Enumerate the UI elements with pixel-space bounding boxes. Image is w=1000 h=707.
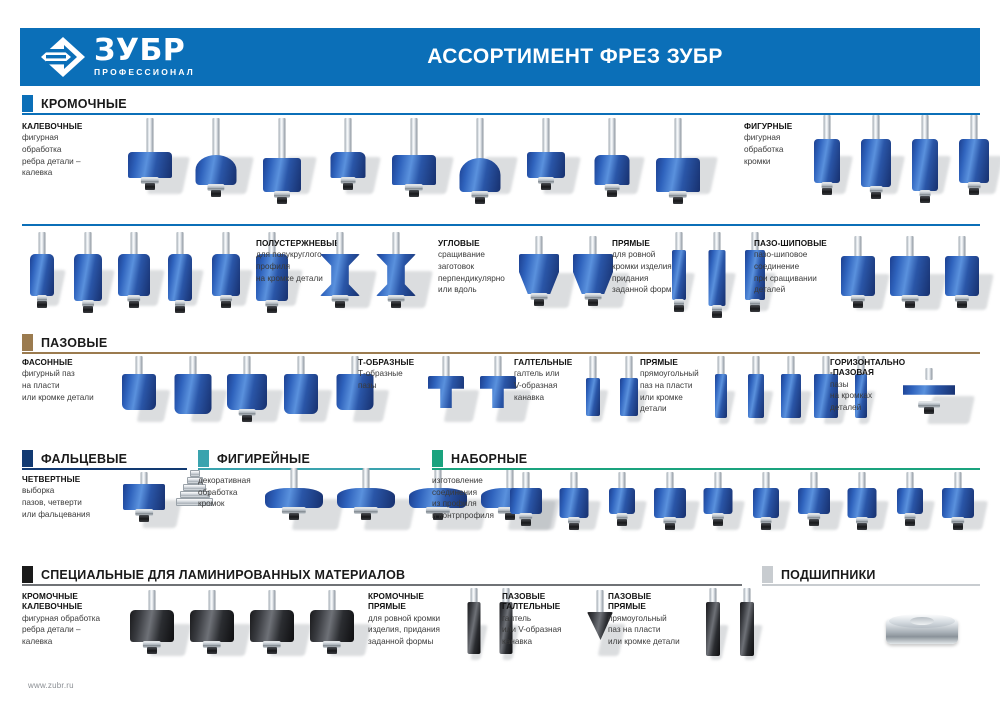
bit-shank [177,232,184,256]
bit-nut [712,311,722,318]
bit-shank [223,232,230,256]
group-label-galtelnye: ГАЛТЕЛЬНЫЕ галтель илиV-образнаяканавка [514,358,582,403]
router-bit [700,588,726,666]
bit-nut [211,190,221,197]
router-bit [602,472,642,536]
bit-shank [626,356,633,380]
bit-shank [337,232,344,256]
bit-cutter-body [595,155,630,185]
router-bit [938,472,978,536]
router-bit [170,356,216,428]
router-bit [743,356,769,430]
bit-shank [244,356,251,376]
bit-shank [823,356,830,376]
section-accent-chip [22,95,33,112]
bit-shank [279,118,286,160]
router-bit [306,590,358,662]
router-bit [836,236,880,316]
group-label-pazo-shipovye: ПАЗО-ШИПОВЫЕ пазо-шиповоесоединениепри с… [754,239,830,296]
router-bit [708,356,734,430]
bit-shank [363,468,370,490]
section-header-pazovye: ПАЗОВЫЕ [22,334,107,351]
bit-cutter-body [748,374,764,418]
bit-shank [675,118,682,160]
bit-shank [590,356,597,380]
bit-cutter-body [196,155,237,185]
footer-url: www.zubr.ru [28,681,74,690]
router-bit [570,236,616,314]
section-header-nabornye: НАБОРНЫЕ [432,450,527,467]
router-bit [516,118,576,200]
section-accent-chip [432,450,443,467]
bit-cutter-body [912,139,938,191]
router-bit [582,118,642,200]
router-bit [855,115,897,200]
router-bit [904,115,946,200]
bit-cutter-body [337,488,395,508]
bit-shank [136,356,143,376]
bit-nut [920,196,930,203]
bit-cutter-body [263,158,301,192]
bit-cutter-body [130,610,174,642]
bit-shank [907,236,914,258]
bit-cutter-body [704,488,733,514]
bit-cutter-body [798,488,830,514]
bit-shank [971,115,978,141]
bit-cutter-body [897,488,923,514]
bit-nut [343,183,353,190]
bearing-product-image [886,612,958,646]
router-bit [842,472,882,536]
bit-cutter-body [715,374,727,418]
bit-cutter-body [740,602,754,656]
bit-cutter-body [331,152,366,178]
bit-nut [905,519,915,526]
section-title: ФИГИРЕЙНЫЕ [209,452,310,466]
bit-shank [345,118,352,154]
group-label-kalevochnye: КАЛЕВОЧНЫЕ фигурнаяобработкаребра детали… [22,122,130,179]
bit-cutter-body [560,488,589,518]
router-bit [664,232,694,317]
section-accent-chip [22,334,33,351]
bit-row-pazo-shipovye [836,236,992,316]
catalog-poster: ЗУБР ПРОФЕССИОНАЛ АССОРТИМЕНТ ФРЕЗ ЗУБР … [0,0,1000,707]
bit-row-gorizontalno-pazovaya [900,368,962,430]
section-rule [22,584,742,586]
bit-nut [761,523,771,530]
bit-shank [269,590,276,612]
section-title: КРОМОЧНЫЕ [33,97,127,111]
bit-nut [750,305,760,312]
bit-cutter-body [128,152,172,178]
brand-tagline: ПРОФЕССИОНАЛ [94,67,195,77]
bit-cutter-body [672,250,686,300]
bit-nut [569,523,579,530]
bit-nut [857,523,867,530]
bit-cutter-body [890,256,930,296]
bit-nut [335,301,345,308]
bit-shank [149,590,156,612]
bit-shank [959,236,966,258]
bearing-inner-ring [910,617,934,625]
section-accent-chip [762,566,773,583]
bit-shank [147,118,154,154]
bit-nut [674,305,684,312]
bit-row-kromochnye-kalevochnye-black [126,590,366,662]
bit-nut [541,183,551,190]
router-bit [116,356,162,428]
router-bit [890,472,930,536]
bit-cutter-body [122,374,156,410]
bit-nut [327,647,337,654]
bit-cutter-body [468,602,481,654]
bit-cutter-body [959,139,989,183]
bit-shank [718,356,725,376]
group-label-t-obraznye: Т-ОБРАЗНЫЕ Т-образныепазы [358,358,424,392]
section-rule [22,352,980,354]
router-bit [554,472,594,536]
bit-row-polusterzhnevye [316,232,428,314]
router-bit [778,356,804,430]
section-rule [432,468,980,470]
bit-nut [267,647,277,654]
bit-shank [597,590,604,614]
bit-cutter-body [510,488,542,514]
router-bit [506,472,546,536]
bit-cutter-body [706,602,720,656]
router-bit [120,472,168,534]
bit-cutter-body [175,374,212,414]
bit-shank [590,236,597,256]
bit-cutter-body [30,254,54,296]
bit-nut [267,306,277,313]
group-label-kromochnye-kalevochnye: КРОМОЧНЫЕКАЛЕВОЧНЫЕ фигурная обработкаре… [22,592,126,647]
bit-cutter-body [212,254,240,296]
page-title: АССОРТИМЕНТ ФРЕЗ ЗУБР [290,45,980,69]
brand-name: ЗУБР [94,37,185,66]
bit-cutter-body [586,378,600,416]
router-bit [900,368,958,430]
bit-nut [957,301,967,308]
bit-nut [924,407,934,414]
section-title: НАБОРНЫЕ [443,452,527,466]
bit-nut [969,188,979,195]
bit-nut [534,299,544,306]
bit-nut [242,415,252,422]
bit-cutter-body [310,610,354,642]
section-header-faltsevye: ФАЛЬЦЕВЫЕ [22,450,127,467]
router-bit [888,236,932,316]
group-label-pazovye-galtelnye: ПАЗОВЫЕГАЛТЕЛЬНЫЕ галтельили V-образнаяк… [502,592,594,647]
section-title: СПЕЦИАЛЬНЫЕ ДЛЯ ЛАМИНИРОВАННЫХ МАТЕРИАЛО… [33,568,405,582]
section-header-kromochnye: КРОМОЧНЫЕ [22,95,127,112]
bit-cutter-body [654,488,686,518]
bit-row-fasonnye [116,356,386,428]
router-bit [316,232,364,314]
bit-nut [147,647,157,654]
bit-shank [39,232,46,256]
section-title: ПАЗОВЫЕ [33,336,107,350]
section-accent-chip [198,450,209,467]
router-bit [806,115,848,200]
bit-cutter-body [123,484,165,510]
bit-cutter-body [656,158,700,192]
brand-logo: ЗУБР ПРОФЕССИОНАЛ [20,36,290,78]
bit-shank [85,232,92,256]
section-accent-chip [22,450,33,467]
bit-cutter-body [284,374,318,414]
router-bit [278,356,324,428]
bit-shank [714,232,721,252]
bit-row-figurnye [806,115,1000,200]
bit-shank [926,368,933,380]
bit-cutter-body [841,256,875,296]
router-bit [224,356,270,428]
router-bit [126,590,178,662]
bit-cutter-body [118,254,150,296]
router-bit [746,472,786,536]
bit-nut [277,197,287,204]
bit-shank [298,356,305,376]
bit-cutter-body [861,139,891,187]
bit-shank [855,236,862,258]
bit-nut [871,192,881,199]
bit-cutter-body [709,250,726,306]
bit-cutter-body [74,254,102,301]
group-label-fasonnye: ФАСОННЫЕ фигурный пазна пластиили кромке… [22,358,130,403]
bit-nut [905,301,915,308]
bit-row-nabornye [506,472,986,536]
router-bit [186,118,246,200]
bit-shank [190,356,197,376]
bit-shank [209,590,216,612]
router-bit [318,118,378,200]
router-bit [648,118,708,200]
router-bit [698,472,738,536]
bit-nut [391,301,401,308]
bit-nut [129,301,139,308]
router-bit [450,118,510,200]
bit-shank [788,356,795,376]
bit-nut [617,519,627,526]
router-bit [580,356,606,428]
bit-cutter-body [620,378,638,416]
router-bit [160,232,200,312]
section-rule [22,468,187,470]
bit-nut [37,301,47,308]
bit-nut [139,515,149,522]
arrow-in-diamond-icon [40,36,86,78]
router-bit [384,118,444,200]
bit-nut [665,523,675,530]
bit-shank [213,118,220,157]
section-rule [762,584,980,586]
bit-nut [588,299,598,306]
section-title: ФАЛЬЦЕВЫЕ [33,452,127,466]
bit-cutter-body [265,488,323,508]
bit-shank [393,232,400,256]
section-header-figireynye: ФИГИРЕЙНЫЕ [198,450,310,467]
bit-cutter-body [392,155,436,185]
bit-shank [477,118,484,160]
bit-nut [521,519,531,526]
bit-cutter-body [848,488,877,518]
router-bit [462,588,486,666]
bit-nut [409,190,419,197]
bit-nut [289,513,299,520]
bit-shank [676,232,683,252]
bit-cutter-body [753,488,779,518]
bit-shank [291,468,298,490]
bit-cutter-body [527,152,565,178]
poster-header: ЗУБР ПРОФЕССИОНАЛ АССОРТИМЕНТ ФРЕЗ ЗУБР [20,28,980,86]
bit-nut [207,647,217,654]
bit-shank [329,590,336,612]
bit-nut [953,523,963,530]
bit-row-t-obraznye [424,356,528,428]
group-label-uglovye: УГЛОВЫЕ сращиваниезаготовокперпендикуляр… [438,239,518,296]
bit-shank [536,236,543,256]
bit-nut [809,519,819,526]
bit-nut [673,197,683,204]
bit-shank [824,115,831,141]
router-bit [206,232,246,312]
bit-nut [175,306,185,313]
bit-cutter-body [460,158,501,192]
router-bit [953,115,995,200]
bit-shank [753,356,760,376]
router-bit [262,468,326,536]
bit-shank [495,356,502,378]
group-label-pryamye-paz: ПРЯМЫЕ прямоугольныйпаз на пластиили кро… [640,358,712,415]
bit-shank [543,118,550,154]
group-label-chetvertnye: ЧЕТВЕРТНЫЕ выборкапазов, четвертиили фал… [22,475,130,520]
bit-cutter-body [942,488,974,518]
bit-nut [221,301,231,308]
bit-row-kalevochnye [120,118,714,200]
router-bit [702,232,732,317]
bit-cutter-body [814,139,840,183]
bit-nut [83,306,93,313]
group-label-figireynye: декоративнаяобработкакромок [198,475,264,510]
bit-cutter-body [945,256,979,296]
bit-nut [145,183,155,190]
bit-nut [713,519,723,526]
bit-cutter-body [168,254,192,301]
bit-nut [475,197,485,204]
router-bit [252,118,312,200]
router-bit [372,232,420,314]
section-accent-chip [22,566,33,583]
section-rule-2 [22,224,980,226]
bit-nut [361,513,371,520]
bit-shank [609,118,616,157]
bit-row-pazovye-pryamye-black [700,588,768,666]
router-bit [650,472,690,536]
router-bit [114,232,154,312]
bit-cutter-body [609,488,635,514]
router-bit [68,232,108,312]
bit-cutter-body [250,610,294,642]
bit-row-uglovye [516,236,624,314]
section-header-spec-laminat: СПЕЦИАЛЬНЫЕ ДЛЯ ЛАМИНИРОВАННЫХ МАТЕРИАЛО… [22,566,405,583]
bit-nut [853,301,863,308]
bit-shank [873,115,880,141]
bit-shank [443,356,450,378]
bit-cutter-body [190,610,234,642]
section-header-podshipniki: ПОДШИПНИКИ [762,566,876,583]
bit-shank [922,115,929,141]
bit-cutter-body [227,374,267,410]
bit-shank [131,232,138,256]
bit-shank [411,118,418,157]
bit-nut [607,190,617,197]
router-bit [186,590,238,662]
bit-cutter-body [781,374,801,418]
router-bit [22,232,62,312]
router-bit [120,118,180,200]
router-bit [616,356,642,428]
group-label-pazovye-pryamye: ПАЗОВЫЕПРЯМЫЕ прямоугольныйпаз на пласти… [608,592,708,647]
group-label-figurnye: ФИГУРНЫЕ фигурнаяобработкакромки [744,122,806,167]
section-title: ПОДШИПНИКИ [773,568,876,582]
router-bit [794,472,834,536]
bit-nut [822,188,832,195]
router-bit [334,468,398,536]
group-label-nabornye: изготовлениесоединенияиз профиляи контрп… [432,475,514,522]
router-bit [734,588,760,666]
router-bit [516,236,562,314]
router-bit [424,356,468,428]
bit-row-chetvertnye [120,472,176,534]
router-bit [940,236,984,316]
router-bit [246,590,298,662]
